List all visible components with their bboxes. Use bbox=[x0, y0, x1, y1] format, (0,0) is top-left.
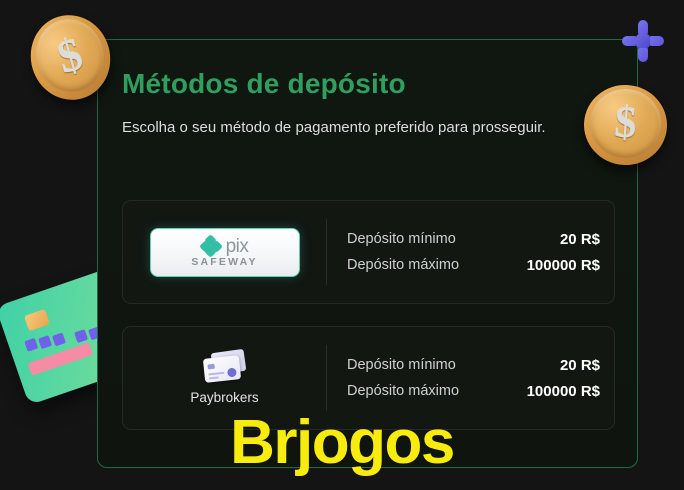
limit-label: Depósito mínimo bbox=[347, 231, 456, 247]
limit-label: Depósito máximo bbox=[347, 383, 459, 399]
limit-value: 100000 R$ bbox=[527, 257, 600, 274]
credit-cards-icon bbox=[203, 351, 247, 383]
pix-logo-top: pix bbox=[201, 236, 249, 256]
paybrokers-label: Paybrokers bbox=[190, 390, 258, 405]
pix-safeway-logo: pix SAFEWAY bbox=[150, 228, 300, 277]
limit-row-max: Depósito máximo 100000 R$ bbox=[347, 257, 600, 274]
watermark-brjogos: Brjogos bbox=[230, 412, 454, 474]
pix-logo-container: pix SAFEWAY bbox=[123, 201, 326, 303]
limit-value: 20 R$ bbox=[560, 231, 600, 248]
limit-label: Depósito máximo bbox=[347, 257, 459, 273]
limit-row-min: Depósito mínimo 20 R$ bbox=[347, 357, 600, 374]
row-divider bbox=[326, 219, 327, 285]
page-subtitle: Escolha o seu método de pagamento prefer… bbox=[122, 117, 572, 140]
page-title: Métodos de depósito bbox=[122, 68, 406, 100]
row-divider bbox=[326, 345, 327, 411]
card-chip-icon bbox=[24, 309, 50, 331]
limit-value: 100000 R$ bbox=[527, 383, 600, 400]
safeway-wordmark: SAFEWAY bbox=[191, 257, 257, 268]
pix-wordmark: pix bbox=[226, 237, 249, 256]
limit-value: 20 R$ bbox=[560, 357, 600, 374]
pix-diamond-icon bbox=[201, 236, 221, 256]
pix-limits: Depósito mínimo 20 R$ Depósito máximo 10… bbox=[347, 201, 600, 303]
limit-label: Depósito mínimo bbox=[347, 357, 456, 373]
limit-row-max: Depósito máximo 100000 R$ bbox=[347, 383, 600, 400]
deposit-methods-panel: Métodos de depósito Escolha o seu método… bbox=[97, 39, 638, 468]
dollar-symbol: $ bbox=[53, 31, 88, 82]
payment-method-pix-safeway[interactable]: pix SAFEWAY Depósito mínimo 20 R$ Depósi… bbox=[122, 200, 615, 304]
limit-row-min: Depósito mínimo 20 R$ bbox=[347, 231, 600, 248]
card-stripe bbox=[28, 342, 94, 375]
screen: Métodos de depósito Escolha o seu método… bbox=[0, 0, 684, 490]
